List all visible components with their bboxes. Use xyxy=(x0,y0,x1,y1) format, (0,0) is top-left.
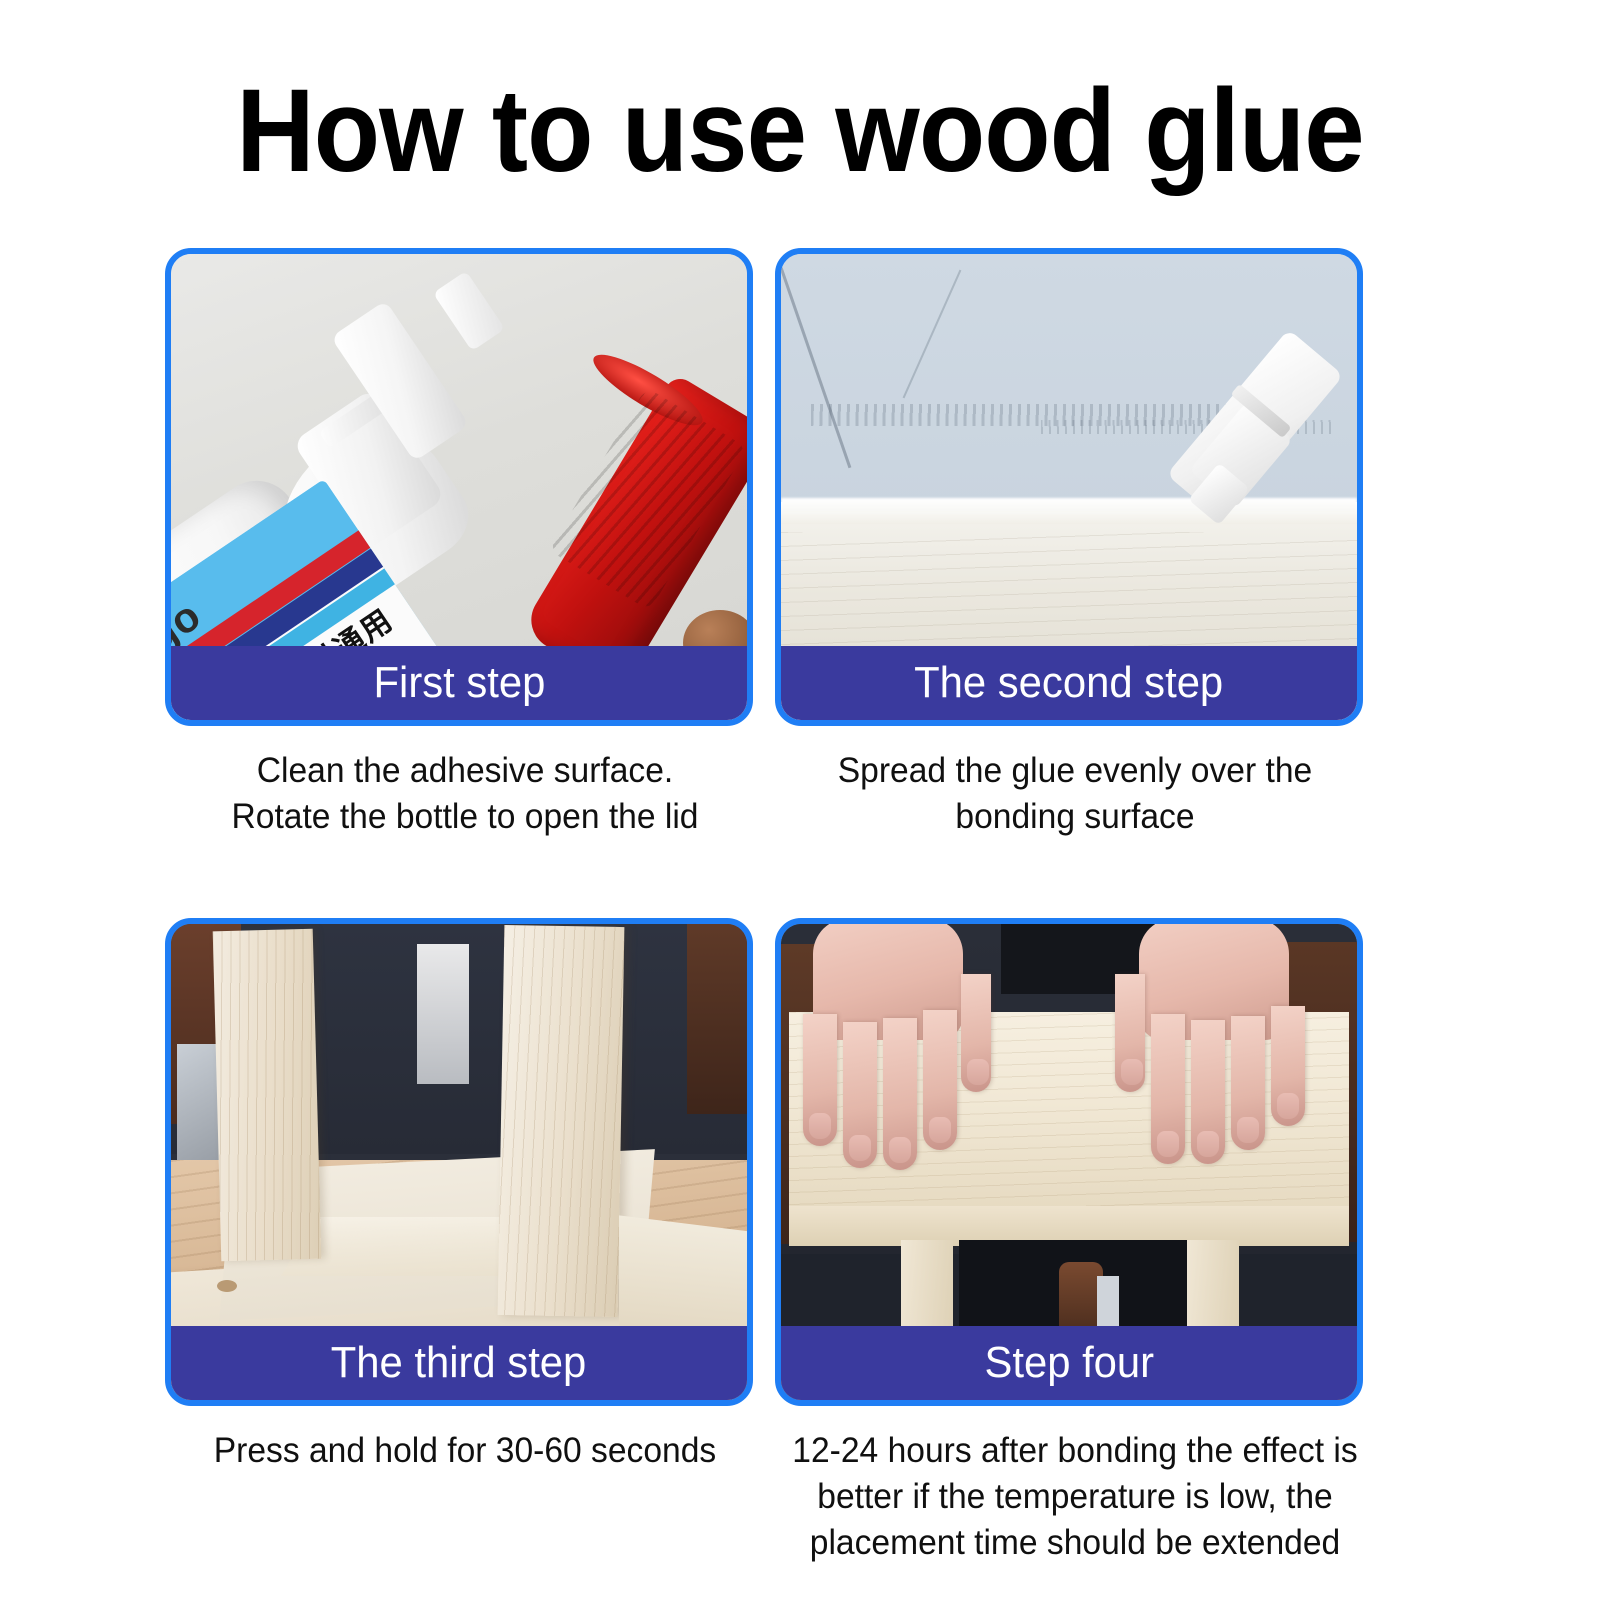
left-hand-finger-2 xyxy=(843,1022,877,1168)
step-1-card-frame: Logo 木材通用胶 First step xyxy=(165,248,753,726)
left-hand-nail-1 xyxy=(809,1113,831,1139)
left-hand-nail-4 xyxy=(929,1117,951,1143)
upright-board-right-grain xyxy=(498,925,625,1317)
left-hand-finger-3 xyxy=(883,1018,917,1170)
step-1-caption-bar: First step xyxy=(171,646,747,720)
dowel-hole-1 xyxy=(217,1280,237,1292)
step-1-description: Clean the adhesive surface. Rotate the b… xyxy=(177,748,753,840)
right-hand-nail-4 xyxy=(1277,1093,1299,1119)
step-3-caption-label: The third step xyxy=(331,1341,587,1385)
step-4-card-frame: Step four xyxy=(775,918,1363,1406)
step-2-description-line-2: bonding surface xyxy=(787,794,1363,840)
upright-board-left xyxy=(213,929,322,1262)
wall-seam-line-2 xyxy=(903,270,962,399)
step-2-description-line-1: Spread the glue evenly over the xyxy=(787,748,1363,794)
right-hand-finger-1 xyxy=(1151,1014,1185,1164)
right-hand-nail-2 xyxy=(1197,1131,1219,1157)
background-white-object xyxy=(417,944,469,1084)
step-4-description-line-3: placement time should be extended xyxy=(787,1520,1363,1566)
step-4-description-line-2: better if the temperature is low, the xyxy=(787,1474,1363,1520)
right-hand-nail-1 xyxy=(1157,1131,1179,1157)
glue-bottle-tip xyxy=(433,271,505,351)
step-2-caption-bar: The second step xyxy=(781,646,1357,720)
left-hand-finger-4 xyxy=(923,1010,957,1150)
right-hand-thumb-nail xyxy=(1121,1059,1143,1085)
right-hand-thumb xyxy=(1115,974,1145,1092)
left-hand-thumb xyxy=(961,974,991,1092)
right-hand-finger-4 xyxy=(1271,1006,1305,1126)
step-3-description: Press and hold for 30-60 seconds xyxy=(177,1428,753,1474)
step-card-3: The third step Press and hold for 30-60 … xyxy=(165,918,765,1474)
step-card-1: Logo 木材通用胶 First step Clean the adhesive… xyxy=(165,248,765,840)
step-card-4: Step four 12-24 hours after bonding the … xyxy=(775,918,1375,1567)
step-2-card-frame: The second step xyxy=(775,248,1363,726)
background-chair-right xyxy=(687,924,747,1114)
step-1-description-line-1: Clean the adhesive surface. xyxy=(177,748,753,794)
step-3-caption-bar: The third step xyxy=(171,1326,747,1400)
wall-seam-line xyxy=(781,254,851,468)
left-hand-finger-1 xyxy=(803,1014,837,1146)
right-hand-nail-3 xyxy=(1237,1117,1259,1143)
steps-grid: Logo 木材通用胶 First step Clean the adhesive… xyxy=(0,0,1600,1600)
step-4-description: 12-24 hours after bonding the effect is … xyxy=(787,1428,1363,1567)
step-2-caption-label: The second step xyxy=(914,661,1223,705)
step-4-caption-bar: Step four xyxy=(781,1326,1357,1400)
right-hand-finger-3 xyxy=(1231,1016,1265,1150)
left-hand-nail-2 xyxy=(849,1135,871,1161)
right-hand-finger-2 xyxy=(1191,1020,1225,1164)
step-1-caption-label: First step xyxy=(373,661,545,705)
step-4-caption-label: Step four xyxy=(984,1341,1154,1385)
step-2-description: Spread the glue evenly over the bonding … xyxy=(787,748,1363,840)
base-panel-right-wing xyxy=(619,1215,747,1342)
glue-bead xyxy=(781,498,1357,514)
step-card-2: The second step Spread the glue evenly o… xyxy=(775,248,1375,840)
step-3-description-line-1: Press and hold for 30-60 seconds xyxy=(177,1428,753,1474)
upright-board-left-grain xyxy=(213,929,322,1262)
step-1-description-line-2: Rotate the bottle to open the lid xyxy=(177,794,753,840)
step-4-description-line-1: 12-24 hours after bonding the effect is xyxy=(787,1428,1363,1474)
step-3-card-frame: The third step xyxy=(165,918,753,1406)
left-hand-nail-3 xyxy=(889,1137,911,1163)
infographic-page: How to use wood glue xyxy=(0,0,1600,1600)
left-hand-thumb-nail xyxy=(967,1059,989,1085)
upright-board-right xyxy=(498,925,625,1317)
